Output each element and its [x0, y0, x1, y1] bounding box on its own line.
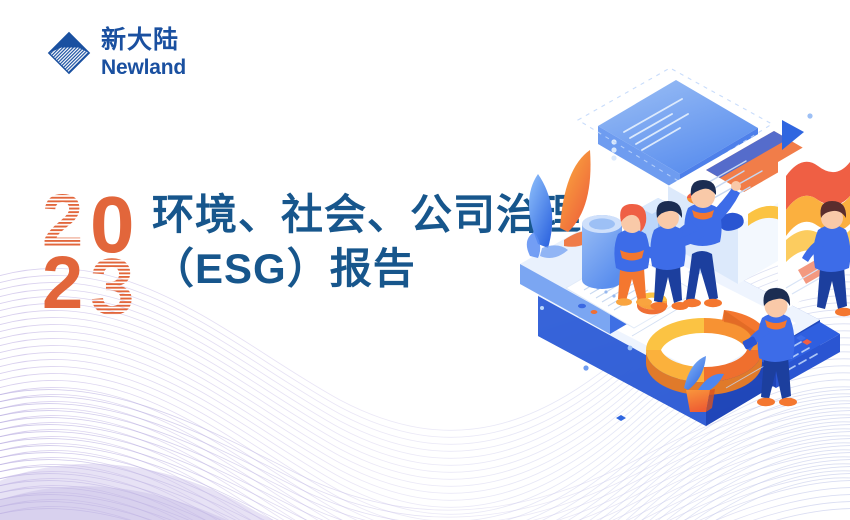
- newland-diamond-logo-icon: [46, 30, 92, 76]
- page-title-line-2: （ESG）报告: [152, 242, 582, 296]
- brand-name-cn: 新大陆: [101, 28, 186, 54]
- brand-wordmark: 新大陆 Newland: [101, 28, 186, 78]
- page-title-line-1: 环境、社会、公司治理: [152, 188, 582, 242]
- year-2023: 2 0 2 3: [42, 186, 154, 318]
- report-cover-page: 新大陆 Newland 2 0 2 3 环境、社会、公司治理 （ESG）报告: [0, 0, 850, 520]
- isometric-esg-teamwork-illustration: [520, 58, 850, 458]
- year-digit-4: 3: [90, 242, 135, 318]
- brand-logo: 新大陆 Newland: [46, 28, 186, 78]
- page-title: 环境、社会、公司治理 （ESG）报告: [152, 188, 582, 296]
- brand-name-en: Newland: [101, 57, 186, 78]
- year-digit-3: 2: [42, 241, 83, 318]
